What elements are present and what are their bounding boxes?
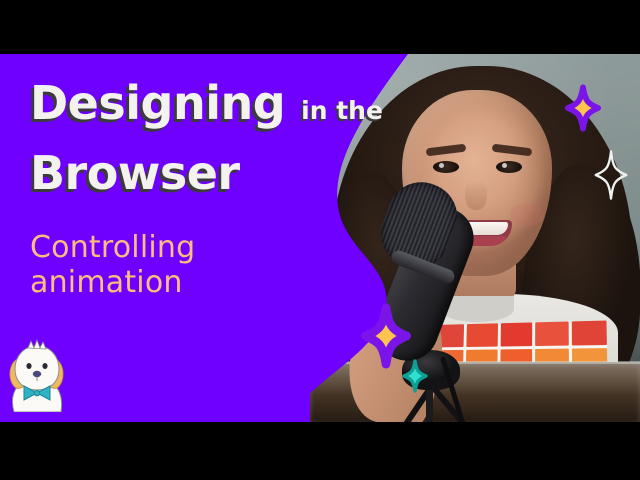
shirt-swatch-5: [572, 321, 607, 346]
nose: [465, 180, 487, 210]
subtitle: Controlling animation: [30, 230, 195, 301]
eye-left: [433, 161, 459, 173]
video-thumbnail: Designing in the Browser Controlling ani…: [0, 0, 640, 480]
title-word-browser: Browser: [30, 150, 240, 196]
shirt-swatch-2: [466, 323, 497, 346]
letterbox-top: [0, 0, 640, 54]
thumbnail-content-band: Designing in the Browser Controlling ani…: [0, 54, 640, 422]
sparkle-teal-small-icon: [402, 360, 428, 392]
title-line-1: Designing in the: [30, 80, 383, 126]
shirt-swatch-4: [536, 322, 569, 346]
subtitle-line-2: animation: [30, 265, 195, 300]
eye-right: [496, 161, 522, 173]
shirt-swatch-3: [500, 322, 532, 346]
sparkle-filled-purple-top-icon: [566, 86, 600, 130]
letterbox-bottom: [0, 422, 640, 480]
subtitle-line-1: Controlling: [30, 230, 195, 265]
title-word-in-the: in the: [301, 98, 383, 123]
sparkle-outline-white-icon: [594, 150, 628, 200]
title-word-designing: Designing: [30, 80, 285, 126]
sparkle-filled-purple-lower-icon: [362, 306, 410, 366]
title-line-2: Browser: [30, 150, 240, 196]
cheek-right: [510, 204, 544, 226]
puppy-logo: [4, 338, 70, 412]
